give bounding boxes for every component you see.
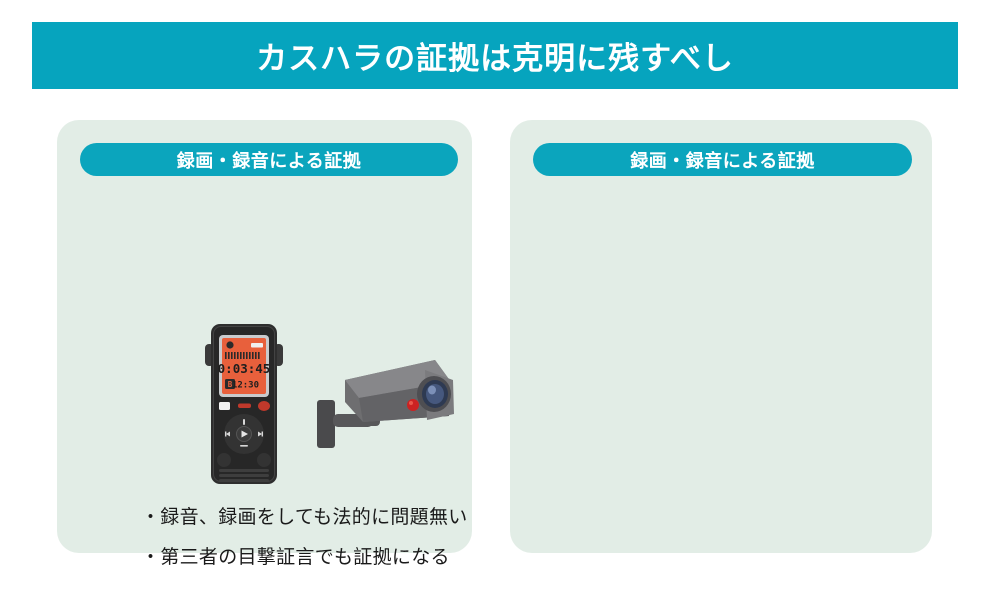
card-header-label: 録画・録音による証拠 <box>630 147 814 173</box>
security-camera-icon <box>315 358 461 469</box>
page-title: カスハラの証拠は克明に残すべし <box>256 33 734 78</box>
card-evidence-memo: 録画・録音による証拠 <box>510 120 932 553</box>
slide-root: カスハラの証拠は克明に残すべし 録画・録音による証拠 <box>0 0 990 598</box>
card-header-label: 録画・録音による証拠 <box>177 147 361 173</box>
recorder-timer-text: 0:03:45 <box>218 361 271 376</box>
recorder-clock-text: 12:30 <box>232 381 259 391</box>
card-header-memo: 録画・録音による証拠 <box>533 143 912 176</box>
list-item: ・第三者の目撃証言でも証拠になる <box>141 548 468 567</box>
card-header-recording: 録画・録音による証拠 <box>80 143 458 176</box>
bullet-list-recording: ・録音、録画をしても法的に問題無い ・第三者の目撃証言でも証拠になる <box>141 508 468 588</box>
title-banner: カスハラの証拠は克明に残すべし <box>32 22 958 89</box>
card-evidence-recording: 録画・録音による証拠 <box>57 120 472 553</box>
voice-recorder-icon: 0:03:45 B 12:30 <box>205 318 283 495</box>
list-item: ・録音、録画をしても法的に問題無い <box>141 508 468 527</box>
